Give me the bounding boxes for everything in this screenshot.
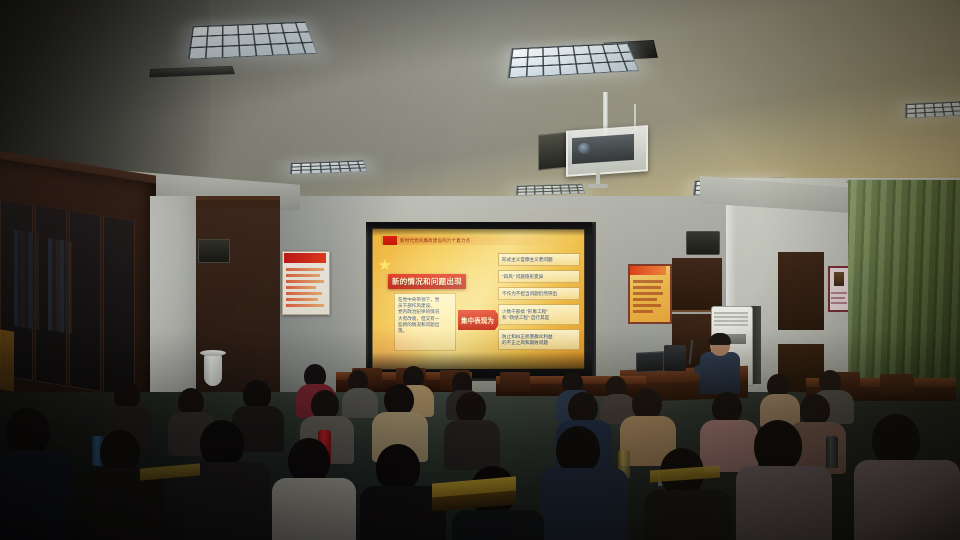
meeting-room-photo: ★ 新时代党风廉政建设的六个着力点 ★ 新的情况和问题出现 在党中央带领下，党 … bbox=[0, 0, 960, 540]
right-wall-dark-panel-upper bbox=[778, 252, 824, 330]
slide-right-box-1: 形式主义官僚主义老问题 bbox=[498, 253, 580, 266]
books-shelf-2 bbox=[48, 238, 72, 334]
slide-right-box-3: 不作为不担当问题仍然突出 bbox=[498, 287, 580, 300]
slide-right-box-2: "四风" 问题隐形变异 bbox=[498, 270, 580, 283]
presenter-torso bbox=[700, 352, 740, 394]
slide-header-text: 新时代党风廉政建设的六个着力点 bbox=[400, 236, 570, 245]
certificate-emblem bbox=[834, 272, 844, 286]
poster-row bbox=[286, 304, 324, 307]
poster-row bbox=[633, 286, 661, 289]
slide-star-decoration-icon: ★ bbox=[378, 258, 394, 274]
laptop-icon bbox=[636, 351, 664, 372]
fluorescent-light-icon-6 bbox=[905, 100, 960, 118]
poster-row bbox=[633, 304, 661, 307]
empty-chair bbox=[880, 374, 914, 396]
certificate-line bbox=[831, 292, 847, 294]
bookcase-amber-reflection bbox=[0, 328, 14, 391]
screen-top-shadow bbox=[366, 222, 592, 236]
fluorescent-light-icon-1 bbox=[187, 21, 318, 60]
wall-speaker-left bbox=[198, 239, 230, 263]
back-wall-cabinet-upper bbox=[672, 258, 722, 312]
water-bottle bbox=[826, 436, 838, 468]
books-shelf-1 bbox=[14, 230, 40, 330]
slide-arrow-callout: 集中表现为 bbox=[458, 310, 502, 330]
poster-row bbox=[286, 268, 324, 271]
right-wall-poster-header bbox=[630, 266, 666, 275]
slide-title-banner: 新的情况和问题出现 bbox=[388, 274, 466, 289]
slide-right-line: 形式主义官僚主义老问题 bbox=[502, 257, 576, 263]
poster-row bbox=[286, 292, 322, 295]
projector-lens-icon bbox=[578, 143, 591, 154]
air-conditioner-vent-icon bbox=[714, 312, 748, 328]
certificate-line bbox=[831, 297, 845, 299]
poster-row bbox=[633, 280, 663, 283]
slide-right-box-4: 少数干部搞 "形象工程" 和 "政绩工程" 自行其是 bbox=[498, 304, 580, 325]
poster-row bbox=[286, 280, 324, 283]
poster-row bbox=[286, 286, 316, 289]
slide-title-text: 新的情况和问题出现 bbox=[392, 276, 462, 287]
slide-right-line: "四风" 问题隐形变异 bbox=[502, 274, 576, 280]
presenter-hair bbox=[709, 333, 731, 345]
poster-row bbox=[633, 298, 657, 301]
projector-stem-foot bbox=[588, 184, 608, 188]
poster-row bbox=[286, 298, 318, 301]
certificate-line bbox=[831, 302, 847, 304]
control-equipment bbox=[664, 345, 686, 371]
wall-pillar bbox=[150, 196, 196, 411]
slide-right-line: 不作为不担当问题仍然突出 bbox=[502, 291, 576, 297]
left-wall-poster-header bbox=[284, 253, 326, 263]
slide-right-line: 和 "政绩工程" 自行其是 bbox=[502, 315, 576, 321]
empty-chair bbox=[500, 372, 530, 392]
poster-row bbox=[633, 310, 653, 313]
fluorescent-light-icon-5 bbox=[515, 184, 585, 196]
slide-arrow-label: 集中表现为 bbox=[461, 315, 494, 325]
vase-rim bbox=[200, 350, 226, 356]
decorative-porcelain-vase bbox=[204, 352, 222, 386]
poster-row bbox=[633, 292, 663, 295]
slide-right-box-5: 防止和纠正损害群众利益 的不正之风和腐败问题 bbox=[498, 329, 580, 350]
chinese-flag-icon: ★ bbox=[383, 236, 397, 245]
poster-row bbox=[286, 274, 320, 277]
slide-right-line: 的不正之风和腐败问题 bbox=[502, 340, 576, 346]
wall-speaker-right bbox=[686, 231, 720, 255]
